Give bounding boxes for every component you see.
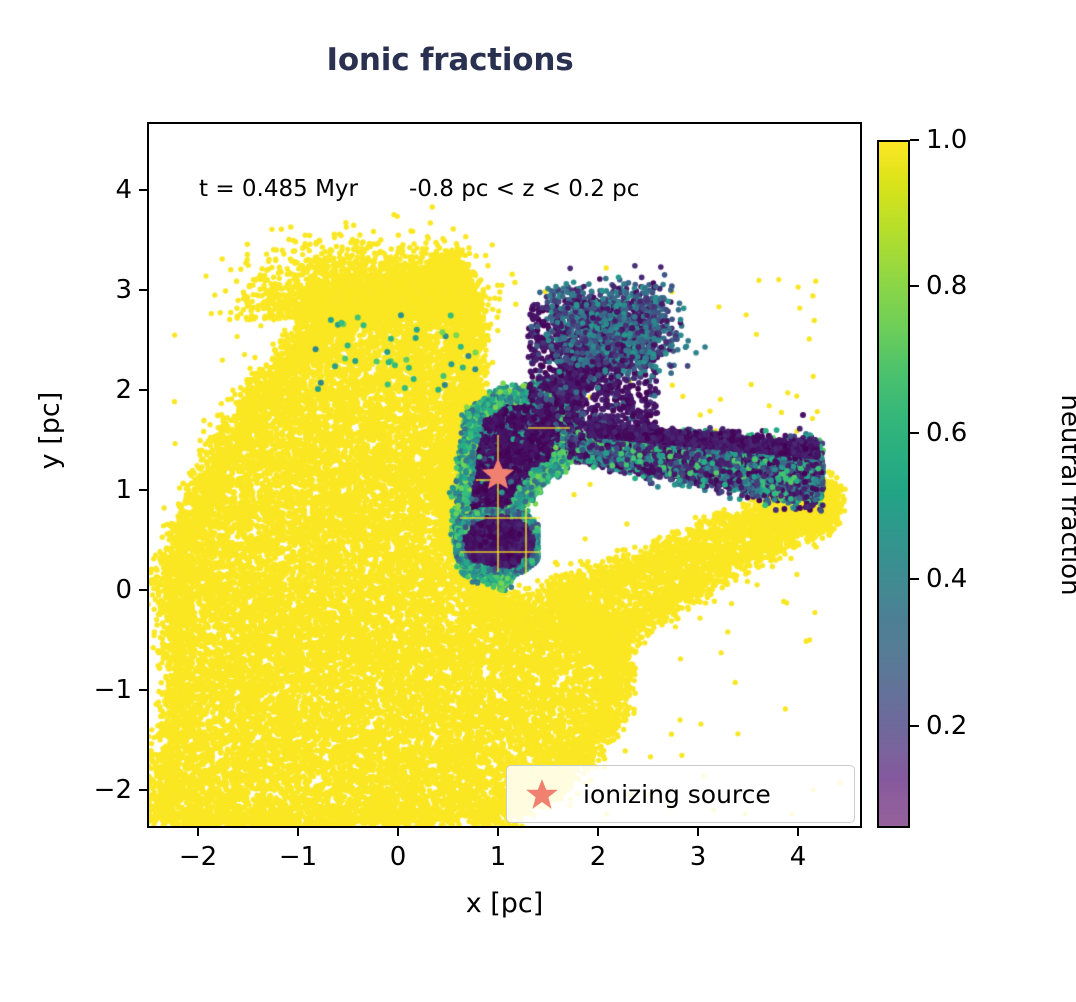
x-tick-label: 1 — [490, 842, 507, 872]
colorbar-tick — [910, 725, 919, 727]
x-tick-label: 2 — [590, 842, 607, 872]
colorbar-tick — [910, 578, 919, 580]
x-tick — [497, 828, 499, 836]
y-tick — [139, 589, 147, 591]
colorbar-tick-label: 0.4 — [926, 564, 967, 594]
x-tick — [797, 828, 799, 836]
y-tick-label: 0 — [115, 575, 132, 605]
x-tick-label: 0 — [390, 842, 407, 872]
scatter-plot-axes: t = 0.485 Myr -0.8 pc < z < 0.2 pc — [147, 122, 862, 828]
x-tick-label: −1 — [279, 842, 317, 872]
x-tick — [397, 828, 399, 836]
x-tick — [697, 828, 699, 836]
x-tick-label: 4 — [790, 842, 807, 872]
colorbar-tick — [910, 139, 919, 141]
legend-label: ionizing source — [583, 780, 771, 809]
y-tick — [139, 389, 147, 391]
y-tick-label: −2 — [94, 775, 132, 805]
x-tick — [297, 828, 299, 836]
y-tick-label: 4 — [115, 175, 132, 205]
x-tick-label: −2 — [179, 842, 217, 872]
colorbar-tick-label: 0.2 — [926, 711, 967, 741]
y-axis-label: y [pc] — [35, 311, 66, 551]
y-tick-label: −1 — [94, 675, 132, 705]
colorbar-tick-label: 0.8 — [926, 271, 967, 301]
colorbar-tick — [910, 432, 919, 434]
legend[interactable]: ionizing source — [506, 765, 855, 823]
colorbar-tick — [910, 285, 919, 287]
y-tick — [139, 289, 147, 291]
annotation-time: t = 0.485 Myr — [199, 176, 358, 202]
y-tick-label: 2 — [115, 375, 132, 405]
x-tick-label: 3 — [690, 842, 707, 872]
colorbar[interactable] — [877, 140, 910, 828]
page-title: Ionic fractions — [0, 42, 900, 78]
colorbar-tick-label: 1.0 — [926, 125, 967, 155]
x-tick — [597, 828, 599, 836]
colorbar-tick-label: 0.6 — [926, 418, 967, 448]
y-tick — [139, 789, 147, 791]
scatter-point-cloud — [149, 124, 860, 826]
colorbar-gradient — [877, 140, 910, 828]
y-tick — [139, 489, 147, 491]
colorbar-label: neutral fraction — [1055, 330, 1076, 660]
y-tick — [139, 689, 147, 691]
y-tick-label: 3 — [115, 275, 132, 305]
star-icon — [513, 777, 571, 811]
y-tick — [139, 189, 147, 191]
annotation-z-range: -0.8 pc < z < 0.2 pc — [409, 176, 639, 202]
x-tick — [197, 828, 199, 836]
x-axis-label: x [pc] — [147, 888, 862, 919]
y-tick-label: 1 — [115, 475, 132, 505]
